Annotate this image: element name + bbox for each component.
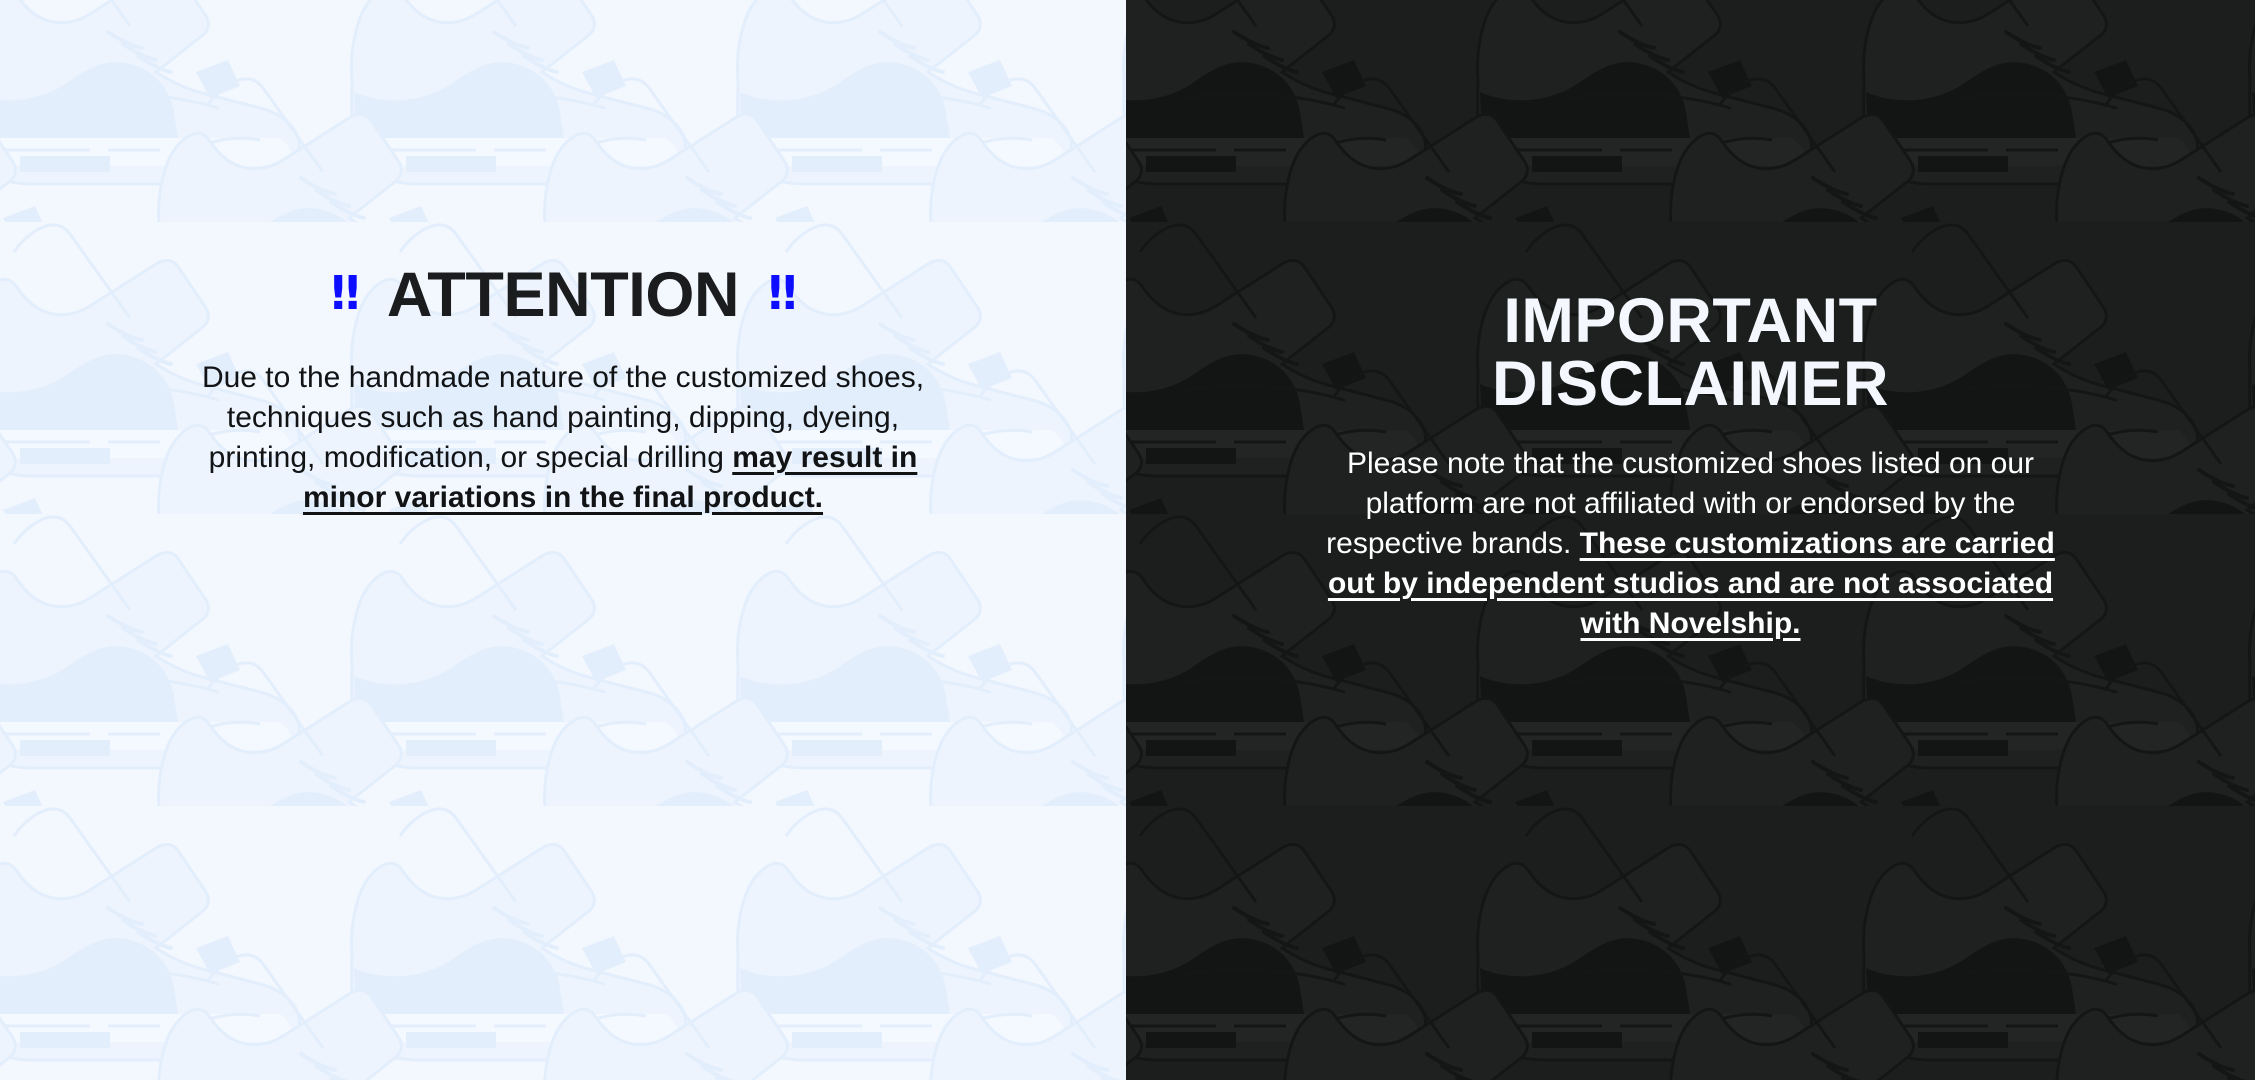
disclaimer-headline: IMPORTANT DISCLAIMER xyxy=(1276,290,2105,416)
disclaimer-body: Please note that the customized shoes li… xyxy=(1276,444,2105,644)
attention-headline-text: ATTENTION xyxy=(387,262,739,328)
disclaimer-headline-line-1: IMPORTANT xyxy=(1276,290,2105,353)
customization-disclaimer-banner: ‼ ATTENTION ‼ Due to the handmade nature… xyxy=(0,0,2255,1080)
attention-panel: ‼ ATTENTION ‼ Due to the handmade nature… xyxy=(0,0,1126,1080)
disclaimer-content: IMPORTANT DISCLAIMER Please note that th… xyxy=(1126,290,2255,644)
disclaimer-panel: IMPORTANT DISCLAIMER Please note that th… xyxy=(1126,0,2255,1080)
attention-content: ‼ ATTENTION ‼ Due to the handmade nature… xyxy=(0,262,1126,518)
sneaker-pattern-icon xyxy=(0,0,1126,1080)
double-exclamation-right-icon: ‼ xyxy=(768,270,795,316)
double-exclamation-left-icon: ‼ xyxy=(331,270,358,316)
attention-body: Due to the handmade nature of the custom… xyxy=(150,358,976,518)
attention-headline: ‼ ATTENTION ‼ xyxy=(150,262,976,328)
disclaimer-headline-line-2: DISCLAIMER xyxy=(1276,353,2105,416)
